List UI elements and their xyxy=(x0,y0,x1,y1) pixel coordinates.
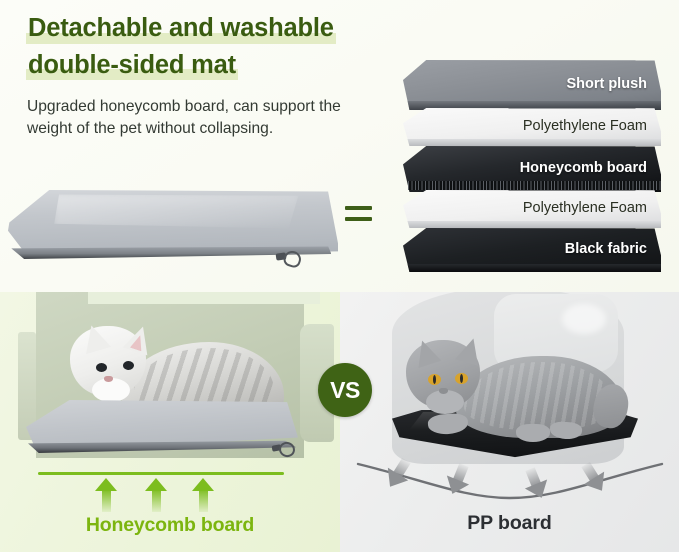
heading-line-1-text: Detachable and washable xyxy=(28,14,334,42)
heading-line-2-text: double-sided mat xyxy=(28,51,236,79)
comparison-section: Honeycomb board xyxy=(0,292,679,552)
up-arrow-icon xyxy=(95,478,117,512)
white-cat-eye-left xyxy=(96,363,107,372)
gray-cat-paw-front xyxy=(427,413,468,436)
infographic-page: Detachable and washable double-sided mat… xyxy=(0,0,679,552)
honeycomb-flute-texture xyxy=(408,181,661,190)
cat-house-opening xyxy=(88,292,320,304)
layer-honeycomb-board-label: Honeycomb board xyxy=(520,160,647,176)
heading-line-2: double-sided mat xyxy=(26,53,238,81)
white-cat-head xyxy=(70,326,146,396)
gray-cat-paw-back-left xyxy=(516,424,550,442)
mat-sheen xyxy=(54,194,298,228)
white-cat-eye-right xyxy=(123,361,134,370)
equals-bar-bottom xyxy=(345,217,372,221)
honeycomb-mat-flat xyxy=(26,400,298,462)
up-arrow-icon xyxy=(145,478,167,512)
white-cat-ear-left xyxy=(79,322,111,354)
gray-cat-ear-right xyxy=(455,335,485,366)
label-pp-board: PP board xyxy=(340,512,679,535)
zipper-icon xyxy=(272,442,294,456)
mat-product-photo xyxy=(8,190,338,272)
up-arrow-shaft xyxy=(199,489,208,512)
top-section: Detachable and washable double-sided mat… xyxy=(0,0,679,292)
comparison-panel-pp-board: PP board xyxy=(340,292,679,552)
support-line-straight xyxy=(38,472,284,475)
heading-line-1: Detachable and washable xyxy=(26,16,336,44)
zipper-pull-ring xyxy=(282,249,303,269)
heading-block: Detachable and washable double-sided mat xyxy=(26,16,406,89)
gray-cat-ear-left xyxy=(411,337,442,368)
layer-short-plush: Short plush xyxy=(403,60,661,110)
layer-polyethylene-foam-top-label: Polyethylene Foam xyxy=(523,118,647,134)
white-cat-muzzle xyxy=(92,378,130,402)
subtitle-text: Upgraded honeycomb board, can support th… xyxy=(27,96,387,139)
zipper-pull-ring xyxy=(277,440,297,459)
vs-badge: VS xyxy=(318,363,372,417)
equals-icon xyxy=(345,203,375,225)
layer-short-plush-label: Short plush xyxy=(566,76,647,92)
up-arrow-icon xyxy=(192,478,214,512)
layer-polyethylene-foam-bottom-label: Polyethylene Foam xyxy=(523,200,647,216)
white-cat-ear-right xyxy=(123,323,156,356)
material-layer-stack: Short plush Polyethylene Foam Honeycomb … xyxy=(403,60,675,280)
layer-honeycomb-board: Honeycomb board xyxy=(403,146,661,192)
layer-black-fabric-label: Black fabric xyxy=(565,241,647,257)
white-cat-nose xyxy=(104,376,113,382)
layer-polyethylene-foam-top: Polyethylene Foam xyxy=(403,108,661,146)
layer-polyethylene-foam-bottom: Polyethylene Foam xyxy=(403,190,661,228)
gray-cat-nose xyxy=(439,388,448,394)
gray-cat-head xyxy=(406,340,480,408)
label-honeycomb-board: Honeycomb board xyxy=(0,514,340,537)
up-arrow-shaft xyxy=(102,489,111,512)
equals-bar-top xyxy=(345,206,372,210)
layer-black-fabric: Black fabric xyxy=(403,228,661,272)
vs-badge-text: VS xyxy=(330,377,360,404)
gray-cat-eye-right xyxy=(455,373,468,384)
up-arrow-shaft xyxy=(152,489,161,512)
gray-cat-illustration xyxy=(398,326,626,446)
zipper-icon xyxy=(276,250,300,266)
comparison-panel-honeycomb: Honeycomb board xyxy=(0,292,340,552)
gray-cat-eye-left xyxy=(428,374,441,385)
